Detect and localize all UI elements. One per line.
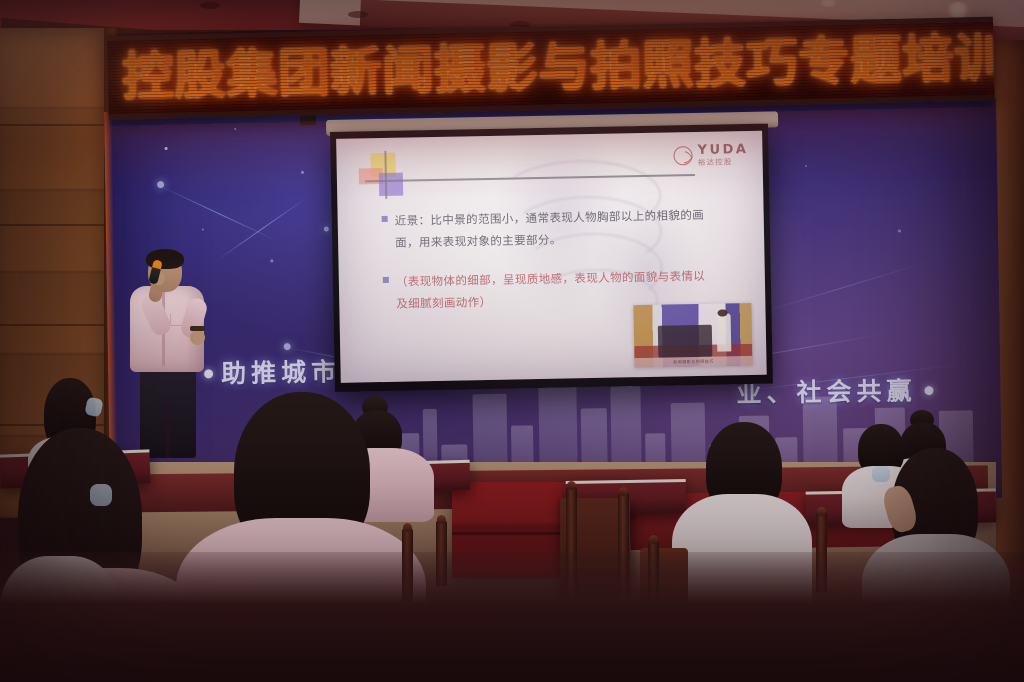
led-banner-char: 新 xyxy=(329,46,382,99)
bullet-square-icon xyxy=(383,277,389,283)
slide-surface: YUDA 裕达控股 近景：比中景的范围小，通常表现人物胸部以上的相貌的画面，用来… xyxy=(336,131,767,383)
led-banner-char: 股 xyxy=(173,49,226,102)
face-mask xyxy=(90,484,112,506)
logo-chinese-text: 裕达控股 xyxy=(698,158,749,166)
led-banner-char: 专 xyxy=(797,35,850,88)
led-banner-char: 控 xyxy=(121,50,174,103)
foreground-shadow xyxy=(0,552,1024,682)
presenter-wristwatch xyxy=(190,326,205,331)
slide-bullet-text: 近景：比中景的范围小，通常表现人物胸部以上的相貌的画面，用来表现对象的主要部分。 xyxy=(395,204,713,255)
presenter-right-hand xyxy=(190,330,205,345)
projector-mount xyxy=(300,116,316,126)
seminar-photograph: 助推城市发 业、社会共赢 xyxy=(0,0,1024,682)
backdrop-node-dot xyxy=(157,181,164,188)
led-banner-char: 题 xyxy=(849,34,902,87)
slide-decoration-motif xyxy=(358,150,419,197)
bullet-square-icon xyxy=(382,216,388,222)
ceiling-speaker xyxy=(348,11,368,18)
ceiling-speaker xyxy=(200,2,220,9)
led-banner-char: 巧 xyxy=(745,36,798,89)
slide-bullet-item: 近景：比中景的范围小，通常表现人物胸部以上的相貌的画面，用来表现对象的主要部分。 xyxy=(382,204,713,255)
led-banner-char: 摄 xyxy=(433,43,486,96)
led-banner-char: 集 xyxy=(225,48,278,101)
backdrop-node-dot xyxy=(284,343,291,350)
logo-english-text: YUDA xyxy=(697,143,748,157)
led-banner-char: 与 xyxy=(537,41,590,94)
ceiling-downlight xyxy=(944,2,972,18)
led-banner-char: 训 xyxy=(953,32,994,85)
led-banner-char: 团 xyxy=(277,47,330,100)
yuda-logo-mark-icon xyxy=(674,146,693,165)
yuda-logo: YUDA 裕达控股 xyxy=(673,143,748,167)
led-banner-char: 照 xyxy=(641,39,694,92)
projection-screen: YUDA 裕达控股 近景：比中景的范围小，通常表现人物胸部以上的相貌的画面，用来… xyxy=(330,124,773,392)
backdrop-node-dot xyxy=(324,226,329,231)
led-banner-char: 技 xyxy=(693,38,746,91)
led-banner-text: 控股集团新闻摄影与拍照技巧专题培训 xyxy=(121,32,990,103)
led-banner-char: 培 xyxy=(901,33,954,86)
led-banner-char: 拍 xyxy=(589,40,642,93)
led-banner-char: 影 xyxy=(485,42,538,95)
led-banner-char: 闻 xyxy=(381,44,434,97)
slide-inset-photo: 新闻摄影与拍照技巧 xyxy=(633,303,752,367)
